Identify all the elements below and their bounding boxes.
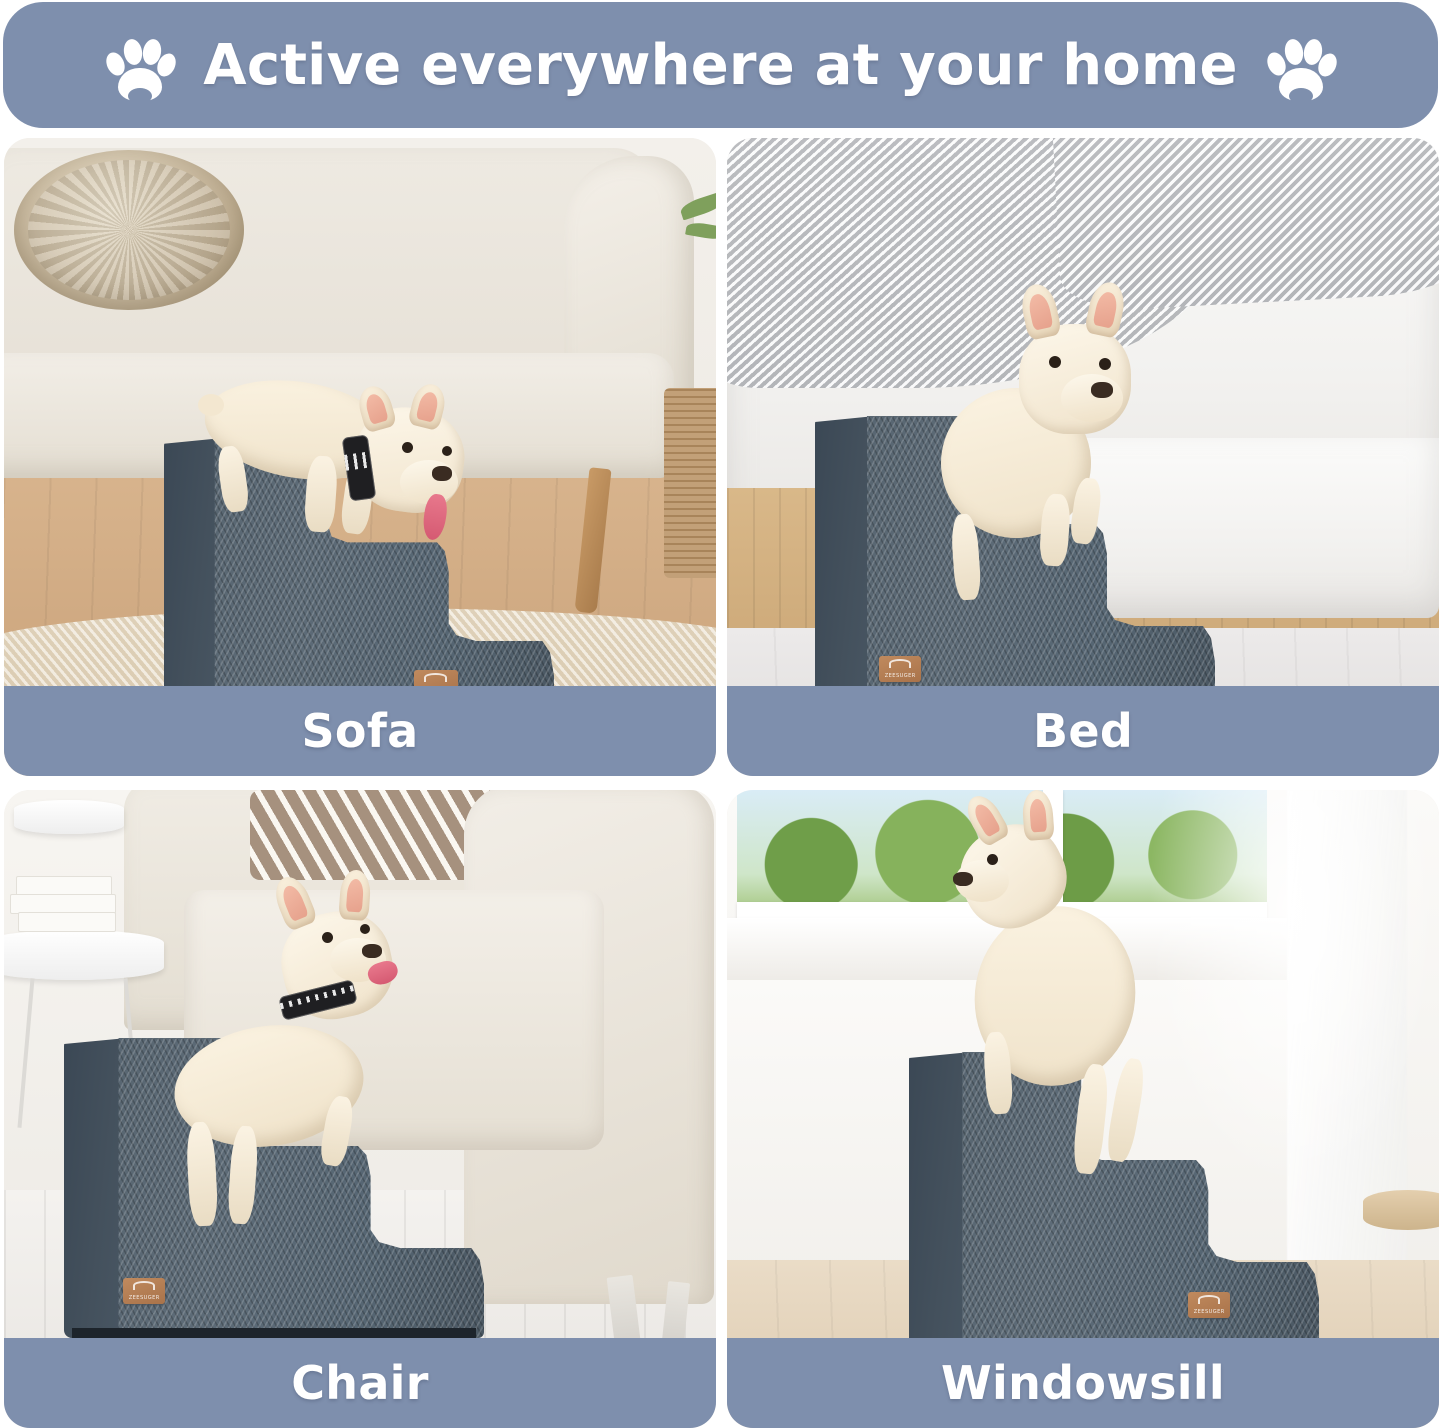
dog-eye — [1099, 358, 1111, 370]
french-bulldog — [923, 278, 1173, 608]
panel-windowsill[interactable]: ZEESUGER Windowsill — [727, 790, 1439, 1428]
header-banner: Active everywhere at your home — [3, 2, 1438, 128]
wooden-stool — [1363, 1190, 1439, 1230]
panel-sofa[interactable]: ZEESUGER Sofa — [4, 138, 716, 776]
paw-icon — [1264, 28, 1338, 102]
brand-label: ZEESUGER — [1188, 1292, 1230, 1318]
book — [16, 876, 112, 896]
round-pillow — [14, 150, 244, 310]
french-bulldog — [154, 876, 444, 1206]
brand-mark-icon — [133, 1281, 155, 1290]
dog-ear — [338, 869, 371, 921]
book — [10, 894, 116, 914]
page-title: Active everywhere at your home — [203, 33, 1237, 98]
dog-ear — [1084, 279, 1128, 339]
brand-mark-icon — [889, 659, 911, 668]
panel-caption-bed: Bed — [727, 686, 1439, 776]
side-table — [4, 930, 164, 980]
scene-windowsill: ZEESUGER — [727, 790, 1439, 1428]
woven-basket — [664, 388, 716, 578]
scene-sofa: ZEESUGER — [4, 138, 716, 776]
french-bulldog — [194, 360, 494, 590]
caption-text: Chair — [291, 1356, 429, 1410]
dog-eye — [1049, 356, 1061, 368]
brand-mark-icon — [1198, 1295, 1220, 1304]
dog-tail — [198, 394, 224, 416]
dog-nose — [1091, 382, 1113, 398]
book — [18, 912, 116, 932]
stairs-side-panel — [815, 416, 875, 716]
dog-nose — [362, 944, 382, 958]
panel-caption-chair: Chair — [4, 1338, 716, 1428]
dog-nose — [432, 466, 452, 481]
side-table-upper — [14, 800, 124, 834]
scene-chair: ZEESUGER — [4, 790, 716, 1428]
dog-ear — [1021, 790, 1054, 841]
panel-caption-sofa: Sofa — [4, 686, 716, 776]
caption-text: Sofa — [302, 704, 419, 758]
geometric-pillow — [250, 790, 500, 880]
dog-ear — [1018, 281, 1062, 341]
brand-label: ZEESUGER — [123, 1278, 165, 1304]
paw-icon — [103, 28, 177, 102]
brand-label: ZEESUGER — [879, 656, 921, 682]
panel-grid: ZEESUGER Sofa — [0, 138, 1445, 1418]
stairs-side-panel — [64, 1038, 127, 1338]
french-bulldog — [927, 796, 1207, 1196]
dog-muzzle — [1061, 374, 1123, 422]
brand-mark-icon — [424, 673, 446, 682]
dog-eye — [360, 924, 370, 934]
dog-eye — [442, 446, 452, 456]
panel-caption-windowsill: Windowsill — [727, 1338, 1439, 1428]
dog-eye — [322, 932, 333, 943]
caption-text: Windowsill — [941, 1356, 1225, 1410]
dog-eye — [987, 854, 998, 865]
dog-nose — [953, 872, 973, 886]
panel-chair[interactable]: ZEESUGER Chair — [4, 790, 716, 1428]
caption-text: Bed — [1033, 704, 1133, 758]
dog-leg — [1104, 1057, 1148, 1164]
scene-bed: ZEESUGER — [727, 138, 1439, 776]
dog-ear — [269, 872, 318, 932]
dog-eye — [402, 442, 413, 453]
panel-bed[interactable]: ZEESUGER Bed — [727, 138, 1439, 776]
